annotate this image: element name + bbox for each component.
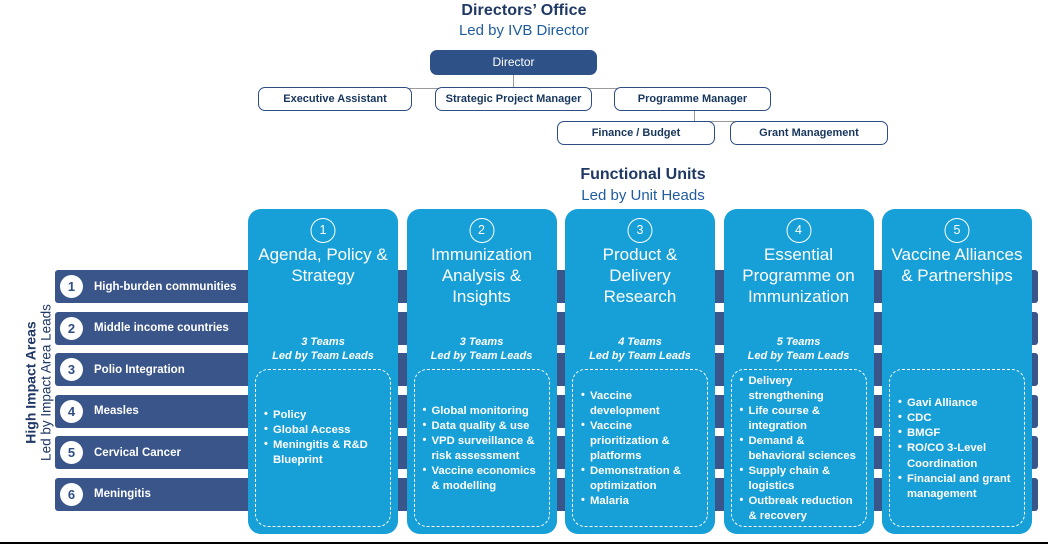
functional-unit-team-item: Global monitoring xyxy=(423,404,543,419)
functional-unit-number-badge: 1 xyxy=(311,218,336,243)
functional-unit-teams-box: PolicyGlobal AccessMeningitis & R&D Blue… xyxy=(255,369,391,527)
functional-unit-team-item: Data quality & use xyxy=(423,419,543,434)
functional-unit-team-item: BMGF xyxy=(898,426,1018,441)
functional-unit-name: Immunization Analysis & Insights xyxy=(414,245,550,308)
functional-unit-team-item: Life course & integration xyxy=(740,404,860,434)
functional-unit-teams-box: Delivery strengtheningLife course & inte… xyxy=(731,369,867,527)
teams-lead-label: Led by Team Leads xyxy=(571,349,709,363)
functional-unit-team-item: Vaccine development xyxy=(581,389,701,419)
functional-unit-card[interactable]: 5Vaccine Alliances & PartnershipsGavi Al… xyxy=(882,209,1032,534)
teams-lead-label: Led by Team Leads xyxy=(254,349,392,363)
functional-unit-team-list: Vaccine developmentVaccine prioritizatio… xyxy=(581,389,701,509)
functional-unit-card[interactable]: 1Agenda, Policy & Strategy3 TeamsLed by … xyxy=(248,209,398,534)
functional-unit-teams-box: Vaccine developmentVaccine prioritizatio… xyxy=(572,369,708,527)
functional-unit-team-item: Supply chain & logistics xyxy=(740,464,860,494)
functional-unit-name: Product & Delivery Research xyxy=(572,245,708,308)
functional-unit-teams-info: 3 TeamsLed by Team Leads xyxy=(254,335,392,363)
teams-lead-label: Led by Team Leads xyxy=(413,349,551,363)
functional-unit-teams-info: 4 TeamsLed by Team Leads xyxy=(571,335,709,363)
functional-unit-team-item: Gavi Alliance xyxy=(898,396,1018,411)
org-chart-page: Directors’ Office Led by IVB Director Di… xyxy=(0,0,1048,544)
functional-unit-team-item: Global Access xyxy=(264,423,384,438)
functional-unit-number-badge: 2 xyxy=(469,218,494,243)
functional-unit-team-item: Meningitis & R&D Blueprint xyxy=(264,438,384,468)
functional-unit-columns: 1Agenda, Policy & Strategy3 TeamsLed by … xyxy=(0,0,1048,544)
functional-unit-team-list: Global monitoringData quality & useVPD s… xyxy=(423,404,543,494)
teams-count: 3 Teams xyxy=(413,335,551,349)
functional-unit-team-item: CDC xyxy=(898,411,1018,426)
functional-unit-card[interactable]: 4Essential Programme on Immunization5 Te… xyxy=(724,209,874,534)
functional-unit-team-item: Delivery strengthening xyxy=(740,374,860,404)
axis-label-line1: High Impact Areas xyxy=(23,268,39,498)
functional-unit-team-item: Financial and grant management xyxy=(898,472,1018,502)
functional-unit-number-badge: 4 xyxy=(786,218,811,243)
functional-unit-team-list: Gavi AllianceCDCBMGFRO/CO 3-Level Coordi… xyxy=(898,396,1018,501)
high-impact-areas-axis-label: High Impact Areas Led by Impact Area Lea… xyxy=(23,268,54,498)
functional-unit-team-list: PolicyGlobal AccessMeningitis & R&D Blue… xyxy=(264,408,384,468)
functional-unit-teams-box: Gavi AllianceCDCBMGFRO/CO 3-Level Coordi… xyxy=(889,369,1025,527)
functional-unit-number-badge: 3 xyxy=(628,218,653,243)
functional-unit-team-item: Demonstration & optimization xyxy=(581,464,701,494)
functional-unit-team-item: Outbreak reduction & recovery xyxy=(740,494,860,524)
functional-unit-team-item: VPD surveillance & risk assessment xyxy=(423,434,543,464)
functional-unit-team-list: Delivery strengtheningLife course & inte… xyxy=(740,374,860,524)
functional-unit-team-item: RO/CO 3-Level Coordination xyxy=(898,441,1018,471)
functional-unit-team-item: Demand & behavioral sciences xyxy=(740,434,860,464)
teams-lead-label: Led by Team Leads xyxy=(730,349,868,363)
functional-unit-card[interactable]: 2Immunization Analysis & Insights3 Teams… xyxy=(407,209,557,534)
functional-unit-card[interactable]: 3Product & Delivery Research4 TeamsLed b… xyxy=(565,209,715,534)
axis-label-line2: Led by Impact Area Leads xyxy=(39,268,54,498)
teams-count: 3 Teams xyxy=(254,335,392,349)
teams-count: 4 Teams xyxy=(571,335,709,349)
functional-unit-team-item: Vaccine economics & modelling xyxy=(423,464,543,494)
teams-count: 5 Teams xyxy=(730,335,868,349)
functional-unit-teams-info: 5 TeamsLed by Team Leads xyxy=(730,335,868,363)
functional-unit-team-item: Malaria xyxy=(581,494,701,509)
functional-unit-teams-box: Global monitoringData quality & useVPD s… xyxy=(414,369,550,527)
functional-unit-teams-info: 3 TeamsLed by Team Leads xyxy=(413,335,551,363)
functional-unit-team-item: Vaccine prioritization & platforms xyxy=(581,419,701,464)
functional-unit-number-badge: 5 xyxy=(945,218,970,243)
functional-unit-name: Vaccine Alliances & Partnerships xyxy=(889,245,1025,287)
functional-unit-name: Essential Programme on Immunization xyxy=(731,245,867,308)
functional-unit-name: Agenda, Policy & Strategy xyxy=(255,245,391,287)
functional-unit-team-item: Policy xyxy=(264,408,384,423)
